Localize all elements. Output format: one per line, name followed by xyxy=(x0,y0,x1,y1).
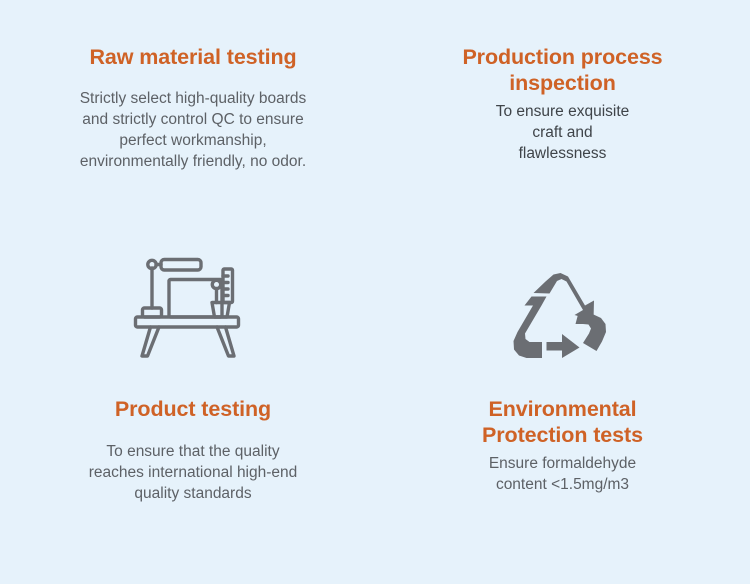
panel-body-environmental: Ensure formaldehyde content <1.5mg/m3 xyxy=(400,453,725,495)
workbench-desk-icon xyxy=(133,252,241,360)
panel-production-process-inspection: Production process inspection To ensure … xyxy=(400,44,725,164)
panel-environmental-protection-tests: Environmental Protection tests Ensure fo… xyxy=(400,396,725,495)
panel-product-testing: Product testing To ensure that the quali… xyxy=(18,396,368,504)
infographic-page: Raw material testing Strictly select hig… xyxy=(0,0,750,584)
panel-body-product-testing: To ensure that the quality reaches inter… xyxy=(18,441,368,504)
panel-heading-production: Production process inspection xyxy=(400,44,725,96)
panel-heading-raw-material: Raw material testing xyxy=(18,44,368,70)
panel-heading-product-testing: Product testing xyxy=(18,396,368,422)
panel-raw-material-testing: Raw material testing Strictly select hig… xyxy=(18,44,368,172)
panel-body-production: To ensure exquisite craft and flawlessne… xyxy=(400,101,725,164)
panel-body-raw-material: Strictly select high-quality boards and … xyxy=(18,88,368,172)
panel-heading-environmental: Environmental Protection tests xyxy=(400,396,725,448)
recycle-icon xyxy=(512,272,608,358)
